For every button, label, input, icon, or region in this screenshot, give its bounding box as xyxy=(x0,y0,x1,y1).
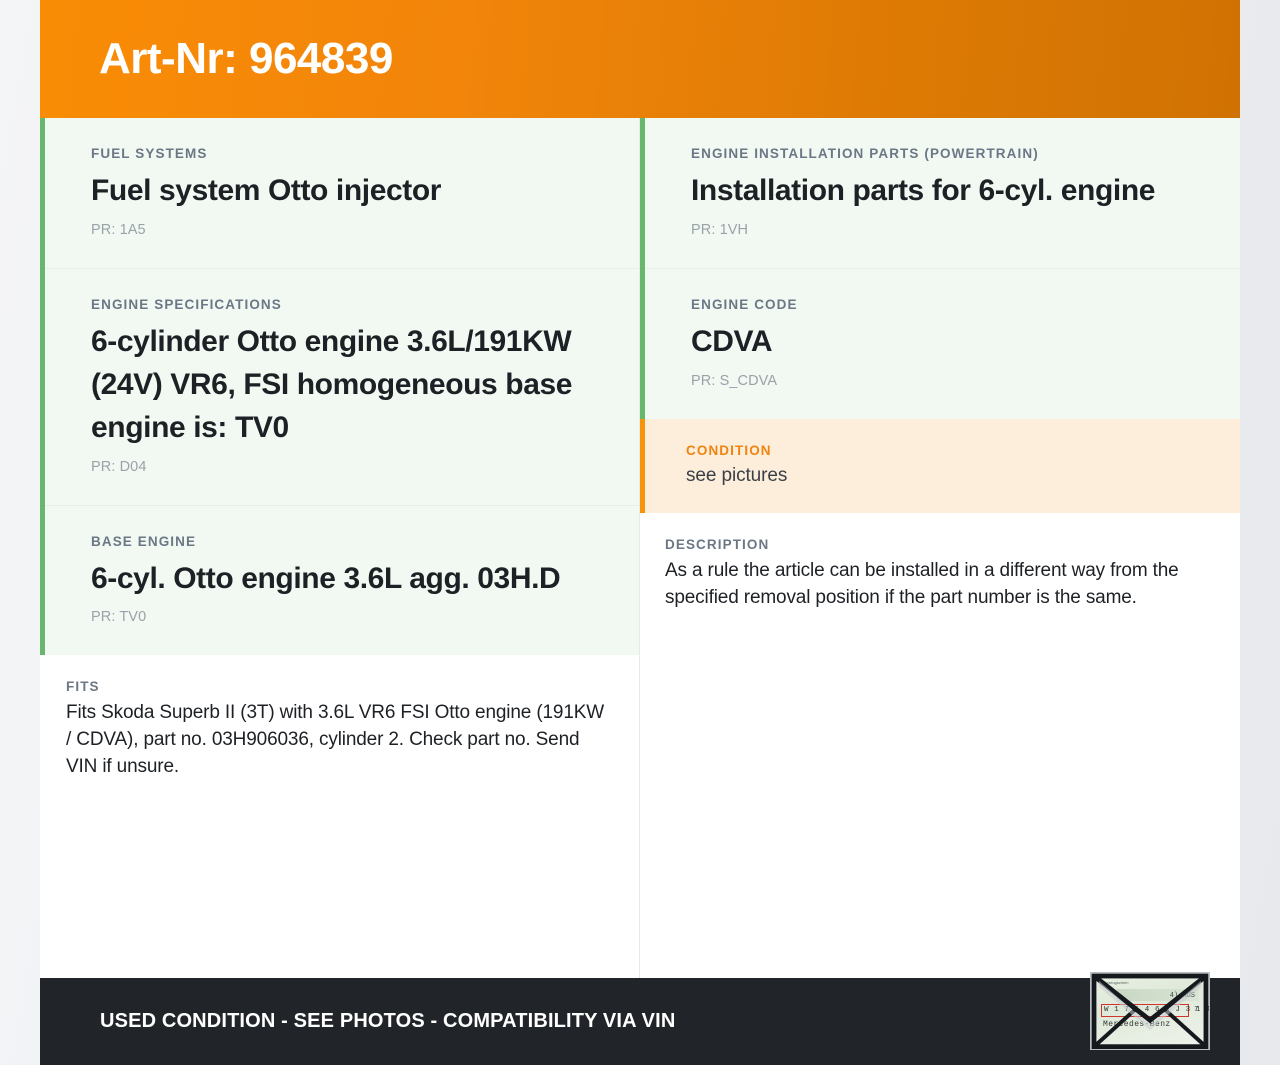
footer-bar: USED CONDITION - SEE PHOTOS - COMPATIBIL… xyxy=(40,978,1240,1065)
spec-card-eyebrow: ENGINE CODE xyxy=(691,297,1194,312)
right-column: ENGINE INSTALLATION PARTS (POWERTRAIN) I… xyxy=(640,118,1240,978)
vin-document-thumbnail: Fahrzeugschein 4) AUS W 1 7 1 4 6 3 J 3 … xyxy=(1090,972,1210,1050)
left-column-filler xyxy=(40,807,639,978)
left-spec-group: FUEL SYSTEMS Fuel system Otto injector P… xyxy=(40,118,639,655)
listing-sheet: Art-Nr: 964839 FUEL SYSTEMS Fuel system … xyxy=(40,0,1240,1065)
spec-card-pr-code: PR: 1A5 xyxy=(91,222,593,238)
content-columns: FUEL SYSTEMS Fuel system Otto injector P… xyxy=(40,118,1240,978)
spec-card-base-engine: BASE ENGINE 6-cyl. Otto engine 3.6L agg.… xyxy=(45,506,639,656)
spec-card-value: CDVA xyxy=(691,321,1194,364)
fits-block: FITS Fits Skoda Superb II (3T) with 3.6L… xyxy=(40,655,639,806)
spec-card-pr-code: PR: 1VH xyxy=(691,222,1194,238)
footer-text: USED CONDITION - SEE PHOTOS - COMPATIBIL… xyxy=(40,1010,675,1033)
spec-card-eyebrow: ENGINE SPECIFICATIONS xyxy=(91,297,593,312)
right-spec-group: ENGINE INSTALLATION PARTS (POWERTRAIN) I… xyxy=(640,118,1240,419)
envelope-icon xyxy=(1091,973,1209,1050)
spec-card-engine-code: ENGINE CODE CDVA PR: S_CDVA xyxy=(645,269,1240,419)
spec-card-pr-code: PR: TV0 xyxy=(91,609,593,625)
spec-card-eyebrow: ENGINE INSTALLATION PARTS (POWERTRAIN) xyxy=(691,146,1194,161)
spec-card-pr-code: PR: D04 xyxy=(91,459,593,475)
spec-card-value: 6-cylinder Otto engine 3.6L/191KW (24V) … xyxy=(91,321,593,450)
spec-card-pr-code: PR: S_CDVA xyxy=(691,373,1194,389)
spec-card-engine-specifications: ENGINE SPECIFICATIONS 6-cylinder Otto en… xyxy=(45,269,639,506)
spec-card-eyebrow: BASE ENGINE xyxy=(91,534,593,549)
description-body: As a rule the article can be installed i… xyxy=(665,558,1206,612)
spec-card-value: 6-cyl. Otto engine 3.6L agg. 03H.D xyxy=(91,558,593,601)
right-column-filler xyxy=(640,637,1240,978)
description-block: DESCRIPTION As a rule the article can be… xyxy=(640,513,1240,638)
header-bar: Art-Nr: 964839 xyxy=(40,0,1240,118)
condition-value: see pictures xyxy=(686,465,1194,487)
page-title: Art-Nr: 964839 xyxy=(40,34,393,84)
left-column: FUEL SYSTEMS Fuel system Otto injector P… xyxy=(40,118,640,978)
condition-label: CONDITION xyxy=(686,443,1194,458)
fits-body: Fits Skoda Superb II (3T) with 3.6L VR6 … xyxy=(66,700,609,780)
spec-card-value: Installation parts for 6-cyl. engine xyxy=(691,170,1194,213)
fits-label: FITS xyxy=(66,679,609,694)
spec-card-engine-installation-parts: ENGINE INSTALLATION PARTS (POWERTRAIN) I… xyxy=(645,118,1240,269)
spec-card-eyebrow: FUEL SYSTEMS xyxy=(91,146,593,161)
condition-block: CONDITION see pictures xyxy=(640,419,1240,513)
spec-card-fuel-systems: FUEL SYSTEMS Fuel system Otto injector P… xyxy=(45,118,639,269)
description-label: DESCRIPTION xyxy=(665,537,1206,552)
spec-card-value: Fuel system Otto injector xyxy=(91,170,593,213)
